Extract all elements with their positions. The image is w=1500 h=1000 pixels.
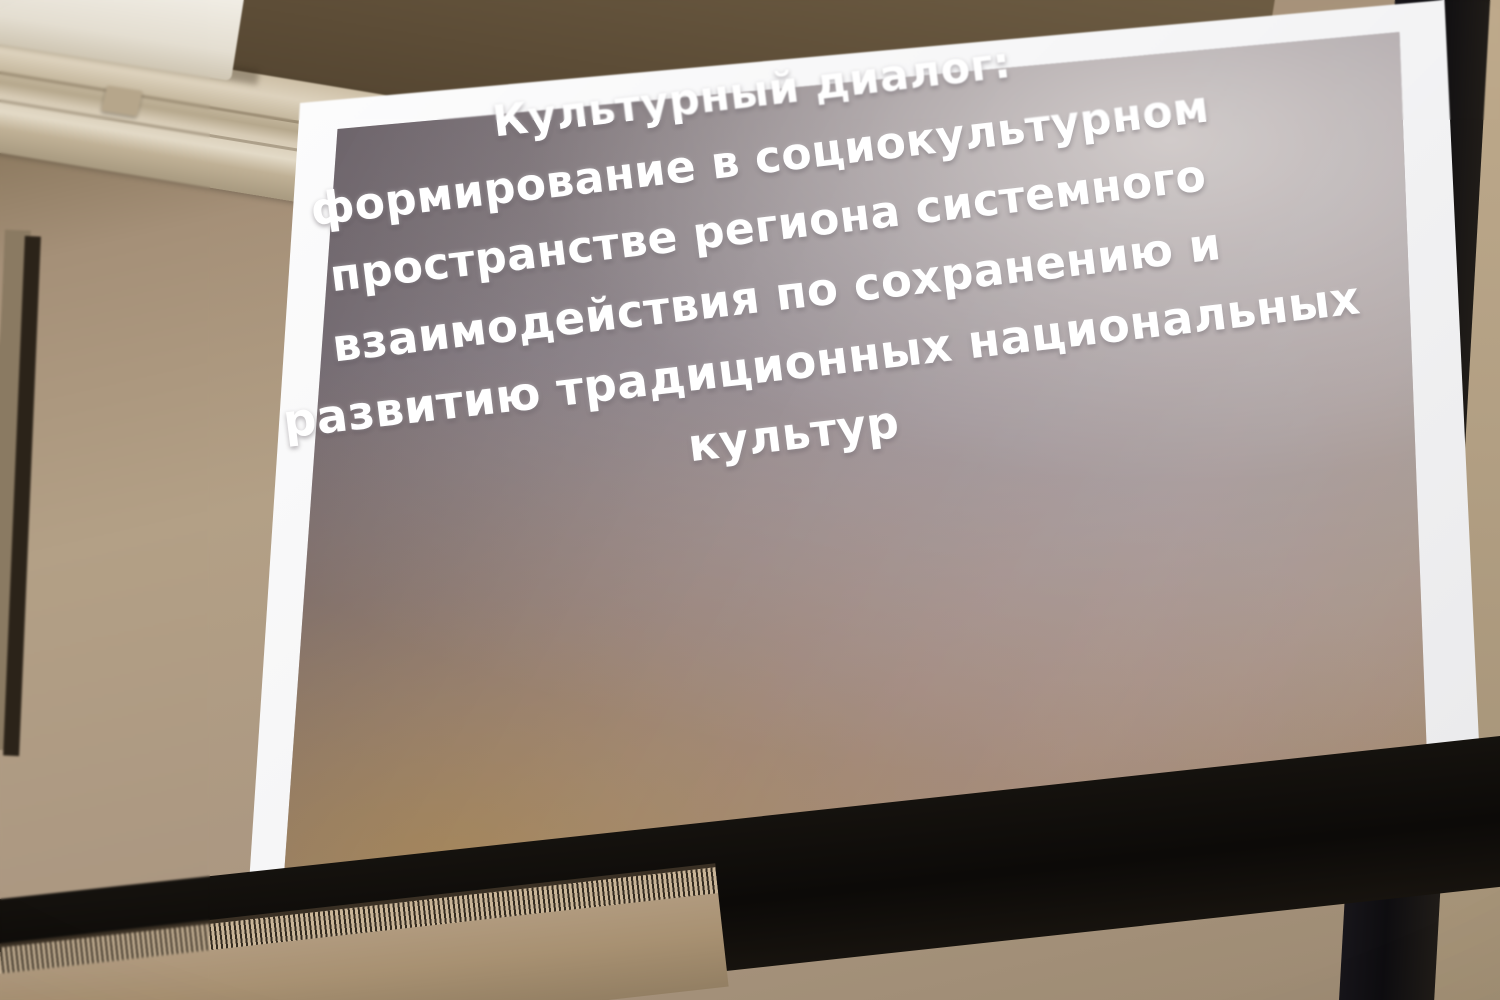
screen-frame-clip — [1411, 94, 1439, 122]
screen-mount-bracket — [101, 85, 142, 116]
room-photo-scene: Культурный диалог: формирование в социок… — [0, 0, 1500, 1000]
screen-frame-clip — [1429, 454, 1457, 482]
